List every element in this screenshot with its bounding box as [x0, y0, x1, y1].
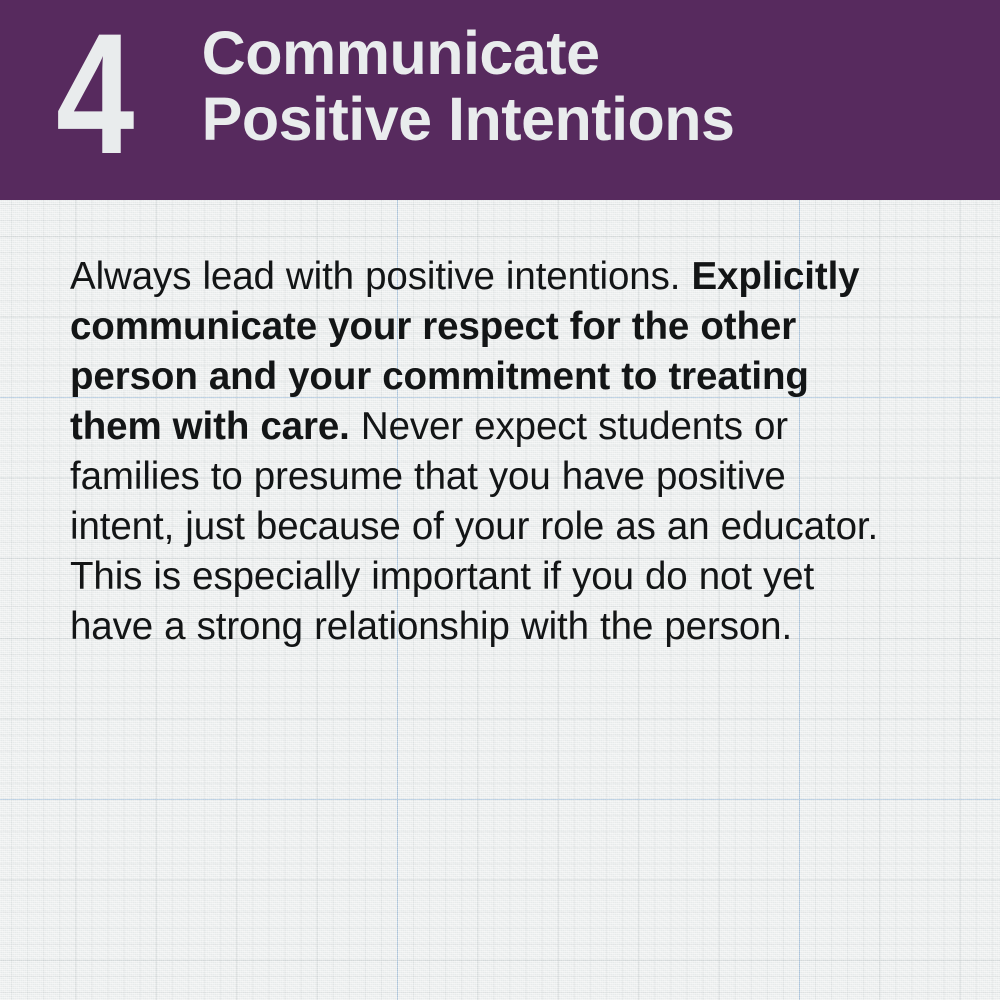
body-run-intro: Always lead with positive intentions. — [70, 255, 691, 298]
step-number: 4 — [56, 8, 133, 180]
page-title: Communicate Positive Intentions — [202, 20, 735, 152]
page-title-line-2: Positive Intentions — [202, 86, 735, 152]
slide-card: 4 Communicate Positive Intentions Always… — [0, 0, 1000, 1000]
header-banner: 4 Communicate Positive Intentions — [0, 0, 1000, 200]
body-paragraph: Always lead with positive intentions. Ex… — [70, 252, 900, 652]
page-title-line-1: Communicate — [202, 20, 735, 86]
